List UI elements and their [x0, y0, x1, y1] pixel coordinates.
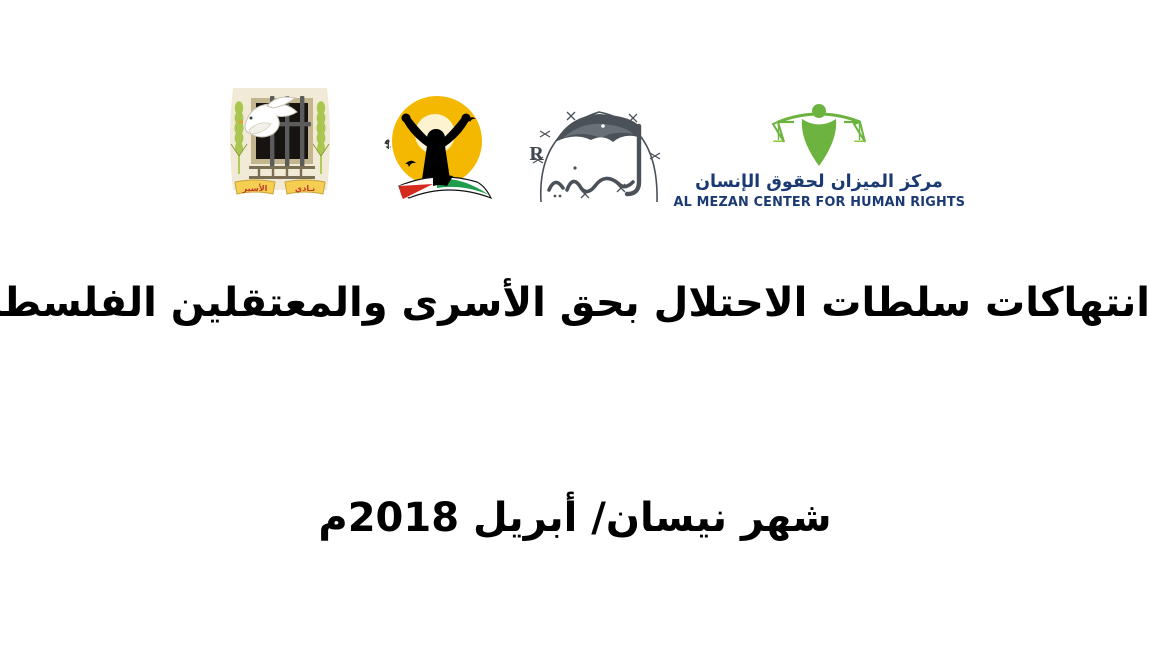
- freed-prisoner-sun-icon: هيئة شؤون الأسرى والمحررين: [373, 78, 501, 210]
- logo-commission-detainees: هيئة شؤون الأسرى والمحررين: [373, 78, 501, 210]
- al-mezan-name-english: AL MEZAN CENTER FOR HUMAN RIGHTS: [673, 195, 965, 210]
- dove-barbed-wire-icon: ADDAMEER: [529, 98, 675, 210]
- prisoners-club-banner-left: الأسير: [242, 183, 268, 193]
- scales-person-icon: [764, 102, 874, 168]
- al-mezan-name-arabic: مركز الميزان لحقوق الإنسان: [695, 172, 943, 193]
- page-title: انتهاكات سلطات الاحتلال بحق الأسرى والمع…: [0, 278, 1150, 329]
- commission-name-arabic: هيئة شؤون الأسرى والمحررين: [373, 78, 392, 150]
- logo-al-mezan: مركز الميزان لحقوق الإنسان AL MEZAN CENT…: [703, 82, 935, 210]
- report-cover-page: مركز الميزان لحقوق الإنسان AL MEZAN CENT…: [0, 0, 1150, 650]
- report-date: شهر نيسان/ أبريل 2018م: [0, 493, 1150, 544]
- partner-logos-row: مركز الميزان لحقوق الإنسان AL MEZAN CENT…: [0, 60, 1150, 210]
- logo-addameer: ADDAMEER: [529, 98, 675, 210]
- addameer-wordmark: ADDAMEER: [529, 143, 545, 165]
- prisoners-club-banner-right: نـادي: [295, 184, 315, 193]
- dove-prison-bars-icon: الأسير نـادي: [215, 78, 345, 210]
- logo-prisoners-club: الأسير نـادي: [215, 78, 345, 210]
